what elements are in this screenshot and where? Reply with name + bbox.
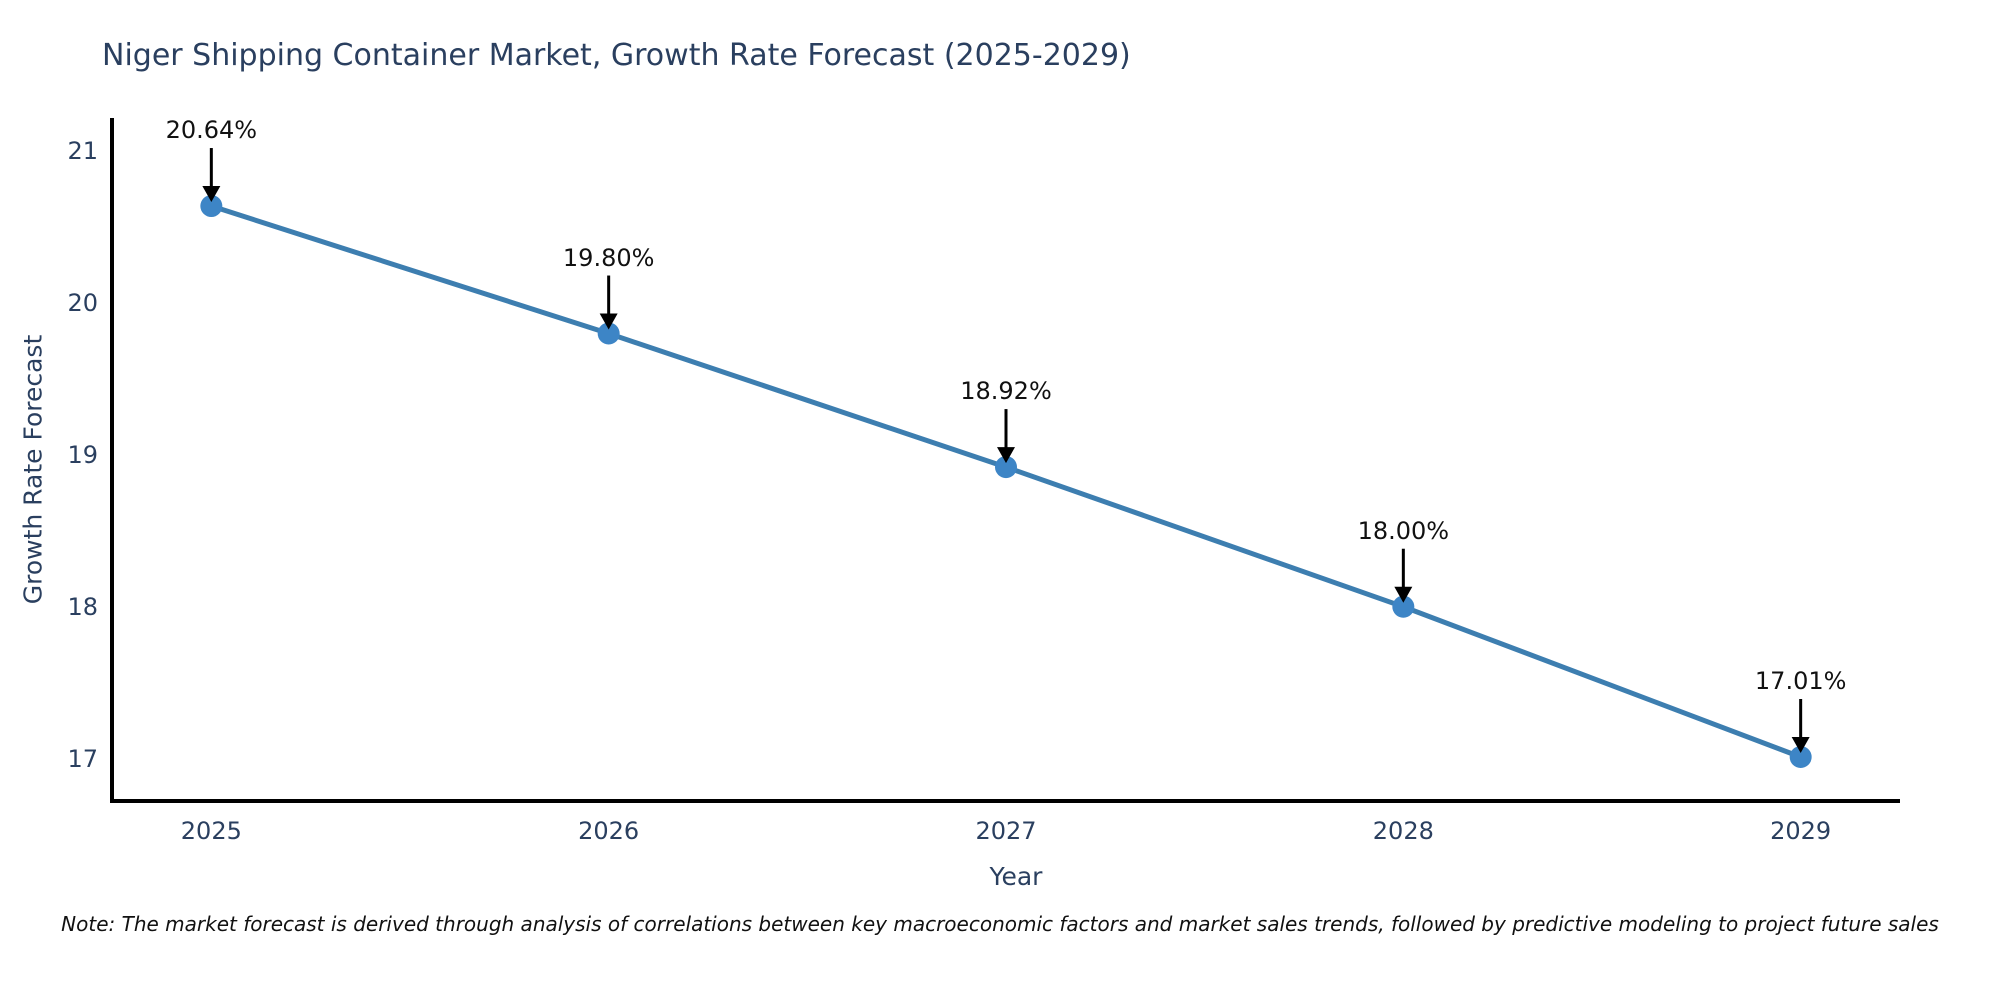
data-series-line [211,206,1800,757]
footer-note: Note: The market forecast is derived thr… [0,912,2000,936]
plot-area [0,0,2000,1000]
series-polyline [211,206,1800,757]
x-axis-title-text: Year [990,862,1043,891]
annotation-arrows [202,148,1809,753]
chart-container: Niger Shipping Container Market, Growth … [0,0,2000,1000]
x-axis-title: Year [0,862,2000,891]
